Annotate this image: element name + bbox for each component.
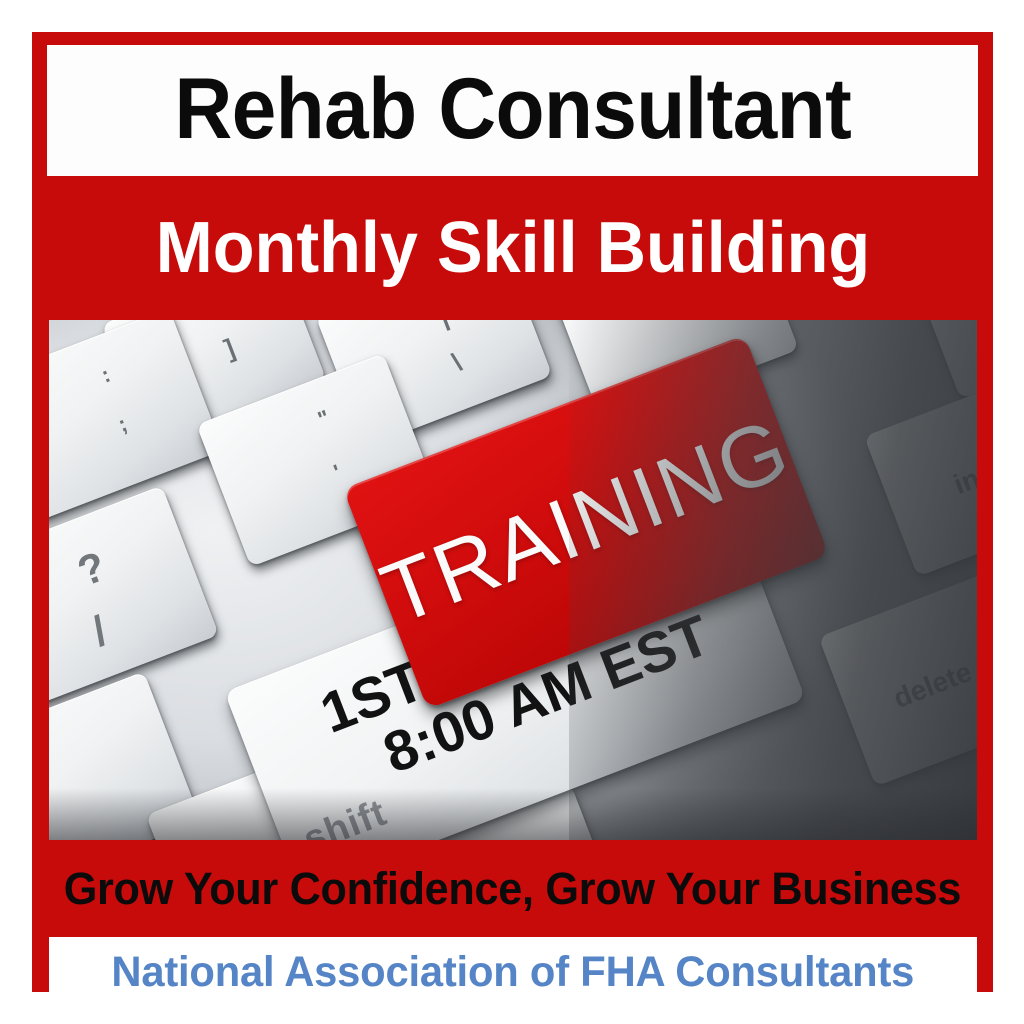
key-glyph-question: ?	[71, 542, 112, 596]
page-subtitle: Monthly Skill Building	[155, 212, 869, 286]
page-title: Rehab Consultant	[174, 66, 851, 156]
poster-card: Rehab Consultant Monthly Skill Building …	[32, 32, 993, 992]
key-glyph-apostrophe: '	[330, 459, 344, 485]
key-glyph-backslash: \	[448, 347, 466, 379]
key-glyph-doublequote: "	[315, 405, 334, 433]
key-glyph-delete: delete	[889, 656, 976, 715]
key-glyph-insert: ins	[949, 457, 977, 501]
tagline-band: Grow Your Confidence, Grow Your Business	[47, 842, 978, 934]
keyboard-key-delete: delete	[818, 549, 977, 786]
key-glyph-semicolon: ;	[115, 411, 131, 438]
keyboard-photo: ] | \ : ; " ' ? / ins delete	[49, 320, 977, 840]
keyboard-key-blank-topright	[911, 320, 977, 399]
keyboard-key-question-slash: ? /	[49, 485, 219, 706]
organization-box: National Association of FHA Consultants	[49, 937, 977, 992]
key-glyph-bracket: ]	[220, 332, 239, 364]
title-box: Rehab Consultant	[47, 45, 978, 176]
key-glyph-pipe: |	[435, 320, 453, 333]
organization-name: National Association of FHA Consultants	[112, 951, 915, 993]
subtitle-band: Monthly Skill Building	[47, 180, 978, 318]
key-glyph-slash: /	[86, 607, 114, 656]
key-glyph-colon: :	[98, 362, 114, 389]
tagline: Grow Your Confidence, Grow Your Business	[64, 866, 961, 911]
